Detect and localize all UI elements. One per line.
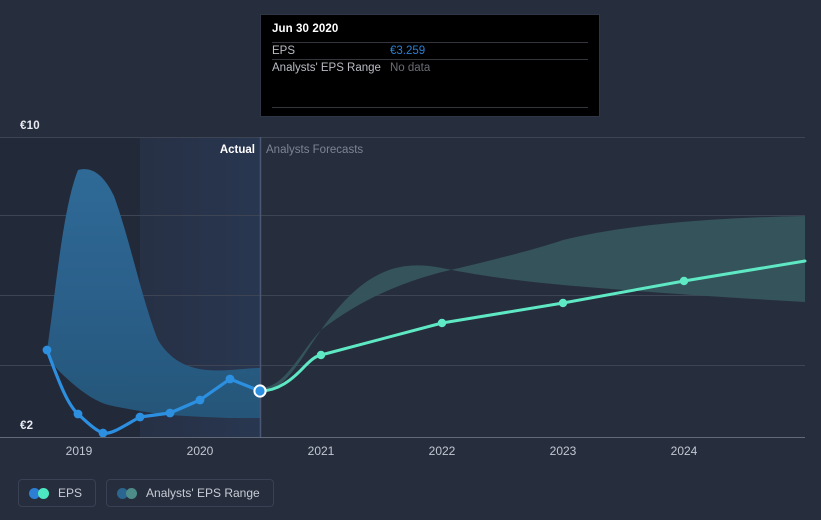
y-axis-label-top: €10	[20, 120, 40, 132]
x-axis-label-2021: 2021	[286, 444, 356, 458]
legend-label-eps: EPS	[58, 486, 82, 500]
tooltip-key-eps: EPS	[272, 45, 390, 57]
tooltip-title: Jun 30 2020	[272, 23, 588, 42]
legend-swatch-eps-icon	[29, 488, 50, 499]
tooltip-key-range: Analysts' EPS Range	[272, 62, 390, 74]
chart-tooltip: Jun 30 2020 EPS €3.259 Analysts' EPS Ran…	[260, 14, 600, 117]
tooltip-footer-divider	[272, 107, 588, 108]
legend-item-analysts-eps-range[interactable]: Analysts' EPS Range	[106, 479, 274, 507]
legend-item-eps[interactable]: EPS	[18, 479, 96, 507]
x-axis-label-2022: 2022	[407, 444, 477, 458]
selected-data-point[interactable]	[254, 385, 265, 396]
legend-label-analysts-eps-range: Analysts' EPS Range	[146, 486, 260, 500]
forecast-region-label: Analysts Forecasts	[266, 144, 363, 156]
eps-forecast-chart-widget: €10 €2 2019 2020 2021 2022 2023 2024 Act…	[0, 0, 821, 520]
actual-region-label: Actual	[220, 144, 255, 156]
x-axis-label-2020: 2020	[165, 444, 235, 458]
tooltip-row-range: Analysts' EPS Range No data	[272, 59, 588, 76]
x-axis-label-2019: 2019	[44, 444, 114, 458]
y-axis-label-bottom: €2	[20, 420, 33, 432]
x-axis-label-2024: 2024	[649, 444, 719, 458]
chart-legend: EPS Analysts' EPS Range	[18, 479, 274, 507]
legend-swatch-range-icon	[117, 488, 138, 499]
x-axis-label-2023: 2023	[528, 444, 598, 458]
tooltip-row-eps: EPS €3.259	[272, 42, 588, 59]
tooltip-value-eps: €3.259	[390, 45, 425, 57]
tooltip-value-range: No data	[390, 62, 430, 74]
